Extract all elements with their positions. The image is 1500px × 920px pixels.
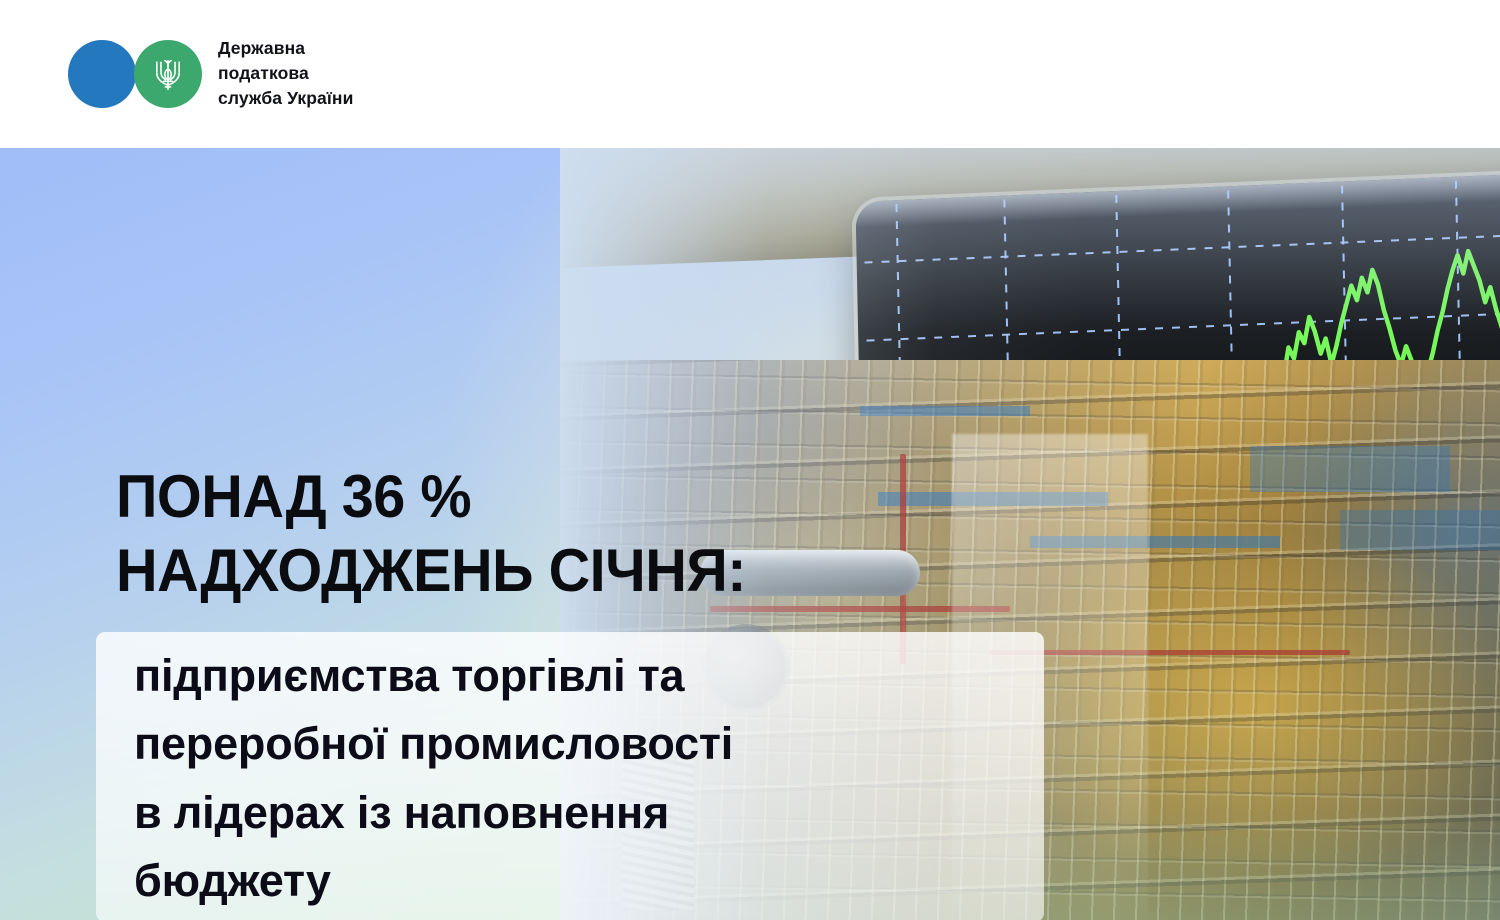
organization-name-line-3: служба України <box>218 86 353 111</box>
poster-root: Державна податкова служба України <box>0 0 1500 920</box>
ukraine-trident-icon <box>152 57 184 93</box>
subhead-line-3: в лідерах із наповнення <box>134 779 733 847</box>
blue-circle-icon <box>68 40 136 108</box>
subhead-line-2: переробної промисловості <box>134 710 733 778</box>
subhead-line-1: підприємства торгівлі та <box>134 642 733 710</box>
organization-name: Державна податкова служба України <box>218 36 353 111</box>
page-subtitle: підприємства торгівлі та переробної пром… <box>134 642 733 916</box>
subhead-line-4: бюджету <box>134 847 733 915</box>
poster-stage: ПОНАД 36 % НАДХОДЖЕНЬ СІЧНЯ: підприємств… <box>0 148 1500 920</box>
organization-logo: Державна податкова служба України <box>68 36 353 111</box>
organization-name-line-1: Державна <box>218 36 353 61</box>
headline-line-1: ПОНАД 36 % <box>116 463 471 530</box>
page-title: ПОНАД 36 % НАДХОДЖЕНЬ СІЧНЯ: <box>116 460 746 609</box>
organization-name-line-2: податкова <box>218 61 353 86</box>
headline-line-2: НАДХОДЖЕНЬ СІЧНЯ: <box>116 534 746 608</box>
header-bar: Державна податкова служба України <box>0 0 1500 148</box>
logo-marks <box>68 37 202 109</box>
